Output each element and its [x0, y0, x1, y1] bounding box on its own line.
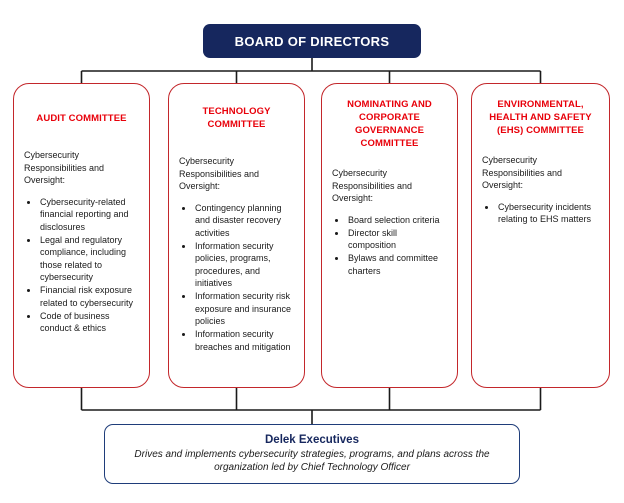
committee-node-environmental-health-safety[interactable]: ENVIRONMENTAL, HEALTH AND SAFETY (EHS) C…: [471, 83, 610, 388]
list-item: Legal and regulatory compliance, includi…: [39, 234, 139, 284]
committee-intro-technology: Cybersecurity Responsibilities and Overs…: [179, 155, 294, 193]
committee-node-audit[interactable]: AUDIT COMMITTEE Cybersecurity Responsibi…: [13, 83, 150, 388]
delek-executives-description: Drives and implements cybersecurity stra…: [117, 448, 507, 475]
delek-executives-node[interactable]: Delek Executives Drives and implements c…: [104, 424, 520, 484]
list-item: Information security breaches and mitiga…: [194, 328, 294, 353]
committee-title-environmental-health-safety: ENVIRONMENTAL, HEALTH AND SAFETY (EHS) C…: [482, 98, 599, 137]
board-of-directors-node[interactable]: BOARD OF DIRECTORS: [203, 24, 421, 58]
committee-intro-nominating-corporate-governance: Cybersecurity Responsibilities and Overs…: [332, 167, 447, 205]
list-item: Information security policies, programs,…: [194, 240, 294, 290]
list-item: Director skill composition: [347, 227, 447, 252]
list-item: Contingency planning and disaster recove…: [194, 202, 294, 240]
committee-title-technology: TECHNOLOGY COMMITTEE: [179, 105, 294, 131]
delek-executives-title: Delek Executives: [265, 434, 359, 446]
committee-responsibility-list-technology: Contingency planning and disaster recove…: [179, 202, 294, 354]
list-item: Bylaws and committee charters: [347, 252, 447, 277]
list-item: Cybersecurity incidents relating to EHS …: [497, 201, 599, 226]
committee-node-nominating-corporate-governance[interactable]: NOMINATING AND CORPORATE GOVERNANCE COMM…: [321, 83, 458, 388]
board-of-directors-label: BOARD OF DIRECTORS: [235, 34, 390, 49]
committee-title-nominating-corporate-governance: NOMINATING AND CORPORATE GOVERNANCE COMM…: [332, 98, 447, 150]
list-item: Cybersecurity-related financial reportin…: [39, 196, 139, 234]
list-item: Financial risk exposure related to cyber…: [39, 284, 139, 309]
committee-intro-environmental-health-safety: Cybersecurity Responsibilities and Overs…: [482, 154, 599, 192]
committee-responsibility-list-nominating: Board selection criteria Director skill …: [332, 214, 447, 278]
org-chart-canvas: BOARD OF DIRECTORS AUDIT COMMITTEE Cyber…: [0, 0, 624, 503]
committee-responsibility-list-audit: Cybersecurity-related financial reportin…: [24, 196, 139, 335]
list-item: Board selection criteria: [347, 214, 447, 227]
committee-title-audit: AUDIT COMMITTEE: [24, 112, 139, 125]
committee-responsibility-list-ehs: Cybersecurity incidents relating to EHS …: [482, 201, 599, 226]
committee-intro-audit: Cybersecurity Responsibilities and Overs…: [24, 149, 139, 187]
list-item: Code of business conduct & ethics: [39, 310, 139, 335]
committee-node-technology[interactable]: TECHNOLOGY COMMITTEE Cybersecurity Respo…: [168, 83, 305, 388]
list-item: Information security risk exposure and i…: [194, 290, 294, 328]
